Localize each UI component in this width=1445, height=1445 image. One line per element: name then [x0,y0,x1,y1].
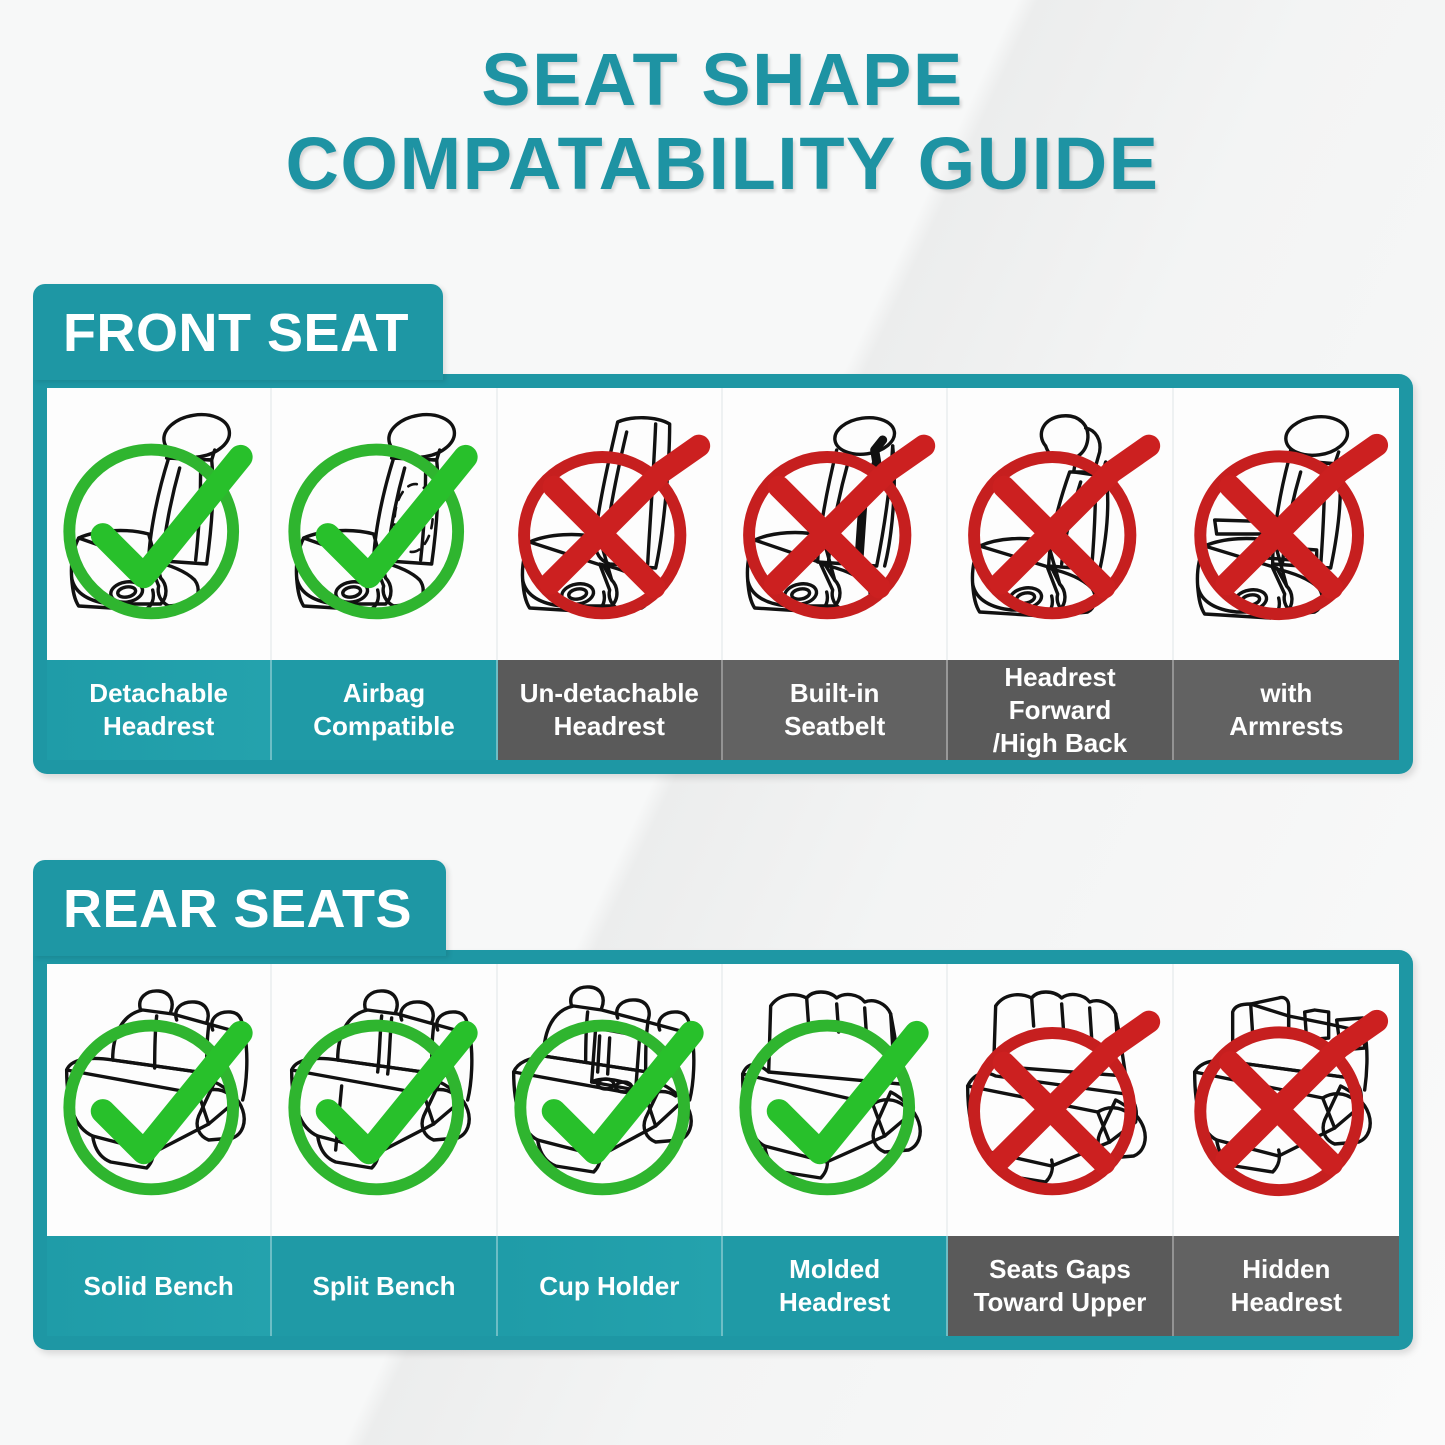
seat-airbag-compatible-art [272,388,497,660]
label-line2: Headrest [1231,1287,1342,1317]
front-label-detachable-headrest: Detachable Headrest [47,660,272,760]
bench-hidden-headrest-art [1174,964,1399,1236]
rear-cell-seats-gaps-toward-upper[interactable]: Seats Gaps Toward Upper [948,964,1173,1336]
rear-label-hidden-headrest: Hidden Headrest [1174,1236,1399,1336]
cross-icon [498,388,721,660]
label-line1: Airbag [343,678,425,708]
label-line1: Un-detachable [520,678,699,708]
check-icon [498,964,721,1236]
cross-icon [723,388,946,660]
section-front-seat-tab: FRONT SEAT [33,284,443,380]
label-line1: Hidden [1242,1254,1330,1284]
check-icon [47,964,270,1236]
label-line2: Headrest [779,1287,890,1317]
front-label-undetachable-headrest: Un-detachable Headrest [498,660,723,760]
section-rear-seats-panel: Solid Bench [33,950,1413,1350]
rear-cell-split-bench[interactable]: Split Bench [272,964,497,1336]
rear-label-cup-holder: Cup Holder [498,1236,723,1336]
rear-cell-hidden-headrest[interactable]: Hidden Headrest [1174,964,1399,1336]
section-rear-seats-tab: REAR SEATS [33,860,446,956]
cross-icon [948,964,1171,1236]
label-line1: Built-in [790,678,880,708]
bench-cup-holder-art [498,964,723,1236]
page-title: SEAT SHAPE COMPATABILITY GUIDE [0,38,1445,206]
section-front-seat-panel: Detachable Headrest [33,374,1413,774]
bench-solid-art [47,964,272,1236]
label-line1: Molded [789,1254,880,1284]
label-line1: Cup Holder [539,1271,679,1301]
label-line1: with [1260,678,1312,708]
rear-label-split-bench: Split Bench [272,1236,497,1336]
front-cell-detachable-headrest[interactable]: Detachable Headrest [47,388,272,760]
front-cell-undetachable-headrest[interactable]: Un-detachable Headrest [498,388,723,760]
rear-cell-cup-holder[interactable]: Cup Holder [498,964,723,1336]
check-icon [47,388,270,660]
front-label-with-armrests: with Armrests [1174,660,1399,760]
label-line1: Detachable [89,678,228,708]
seat-with-armrests-art [1174,388,1399,660]
rear-label-solid-bench: Solid Bench [47,1236,272,1336]
seat-built-in-seatbelt-art [723,388,948,660]
cross-icon [1174,388,1399,660]
rear-seats-grid: Solid Bench [47,964,1399,1336]
section-rear-seats: REAR SEATS [33,860,1413,1350]
label-line2: Toward Upper [974,1287,1147,1317]
label-line1: Headrest Forward [1004,662,1115,725]
front-label-built-in-seatbelt: Built-in Seatbelt [723,660,948,760]
page-title-line2: COMPATABILITY GUIDE [0,122,1445,206]
label-line2: Seatbelt [784,711,885,741]
bench-molded-headrest-art [723,964,948,1236]
check-icon [723,964,946,1236]
front-seat-grid: Detachable Headrest [47,388,1399,760]
seat-headrest-forward-high-back-art [948,388,1173,660]
rear-label-molded-headrest: Molded Headrest [723,1236,948,1336]
rear-label-seats-gaps-toward-upper: Seats Gaps Toward Upper [948,1236,1173,1336]
label-line2: Armrests [1229,711,1343,741]
cross-icon [948,388,1171,660]
label-line2: Headrest [554,711,665,741]
front-cell-airbag-compatible[interactable]: Airbag Compatible [272,388,497,760]
front-cell-built-in-seatbelt[interactable]: Built-in Seatbelt [723,388,948,760]
cross-icon [1174,964,1399,1236]
label-line2: /High Back [993,728,1127,758]
label-line1: Split Bench [312,1271,455,1301]
label-line2: Headrest [103,711,214,741]
front-cell-with-armrests[interactable]: with Armrests [1174,388,1399,760]
front-cell-headrest-forward-high-back[interactable]: Headrest Forward /High Back [948,388,1173,760]
bench-split-art [272,964,497,1236]
seat-detachable-headrest-art [47,388,272,660]
infographic-page: SEAT SHAPE COMPATABILITY GUIDE FRONT SEA… [0,0,1445,1445]
front-label-headrest-forward-high-back: Headrest Forward /High Back [948,660,1173,760]
label-line1: Seats Gaps [989,1254,1131,1284]
check-icon [272,964,495,1236]
bench-seats-gaps-toward-upper-art [948,964,1173,1236]
front-label-airbag-compatible: Airbag Compatible [272,660,497,760]
label-line2: Compatible [313,711,455,741]
section-front-seat: FRONT SEAT [33,284,1413,774]
rear-cell-molded-headrest[interactable]: Molded Headrest [723,964,948,1336]
rear-cell-solid-bench[interactable]: Solid Bench [47,964,272,1336]
check-icon [272,388,495,660]
label-line1: Solid Bench [84,1271,234,1301]
seat-undetachable-headrest-art [498,388,723,660]
page-title-line1: SEAT SHAPE [0,38,1445,122]
